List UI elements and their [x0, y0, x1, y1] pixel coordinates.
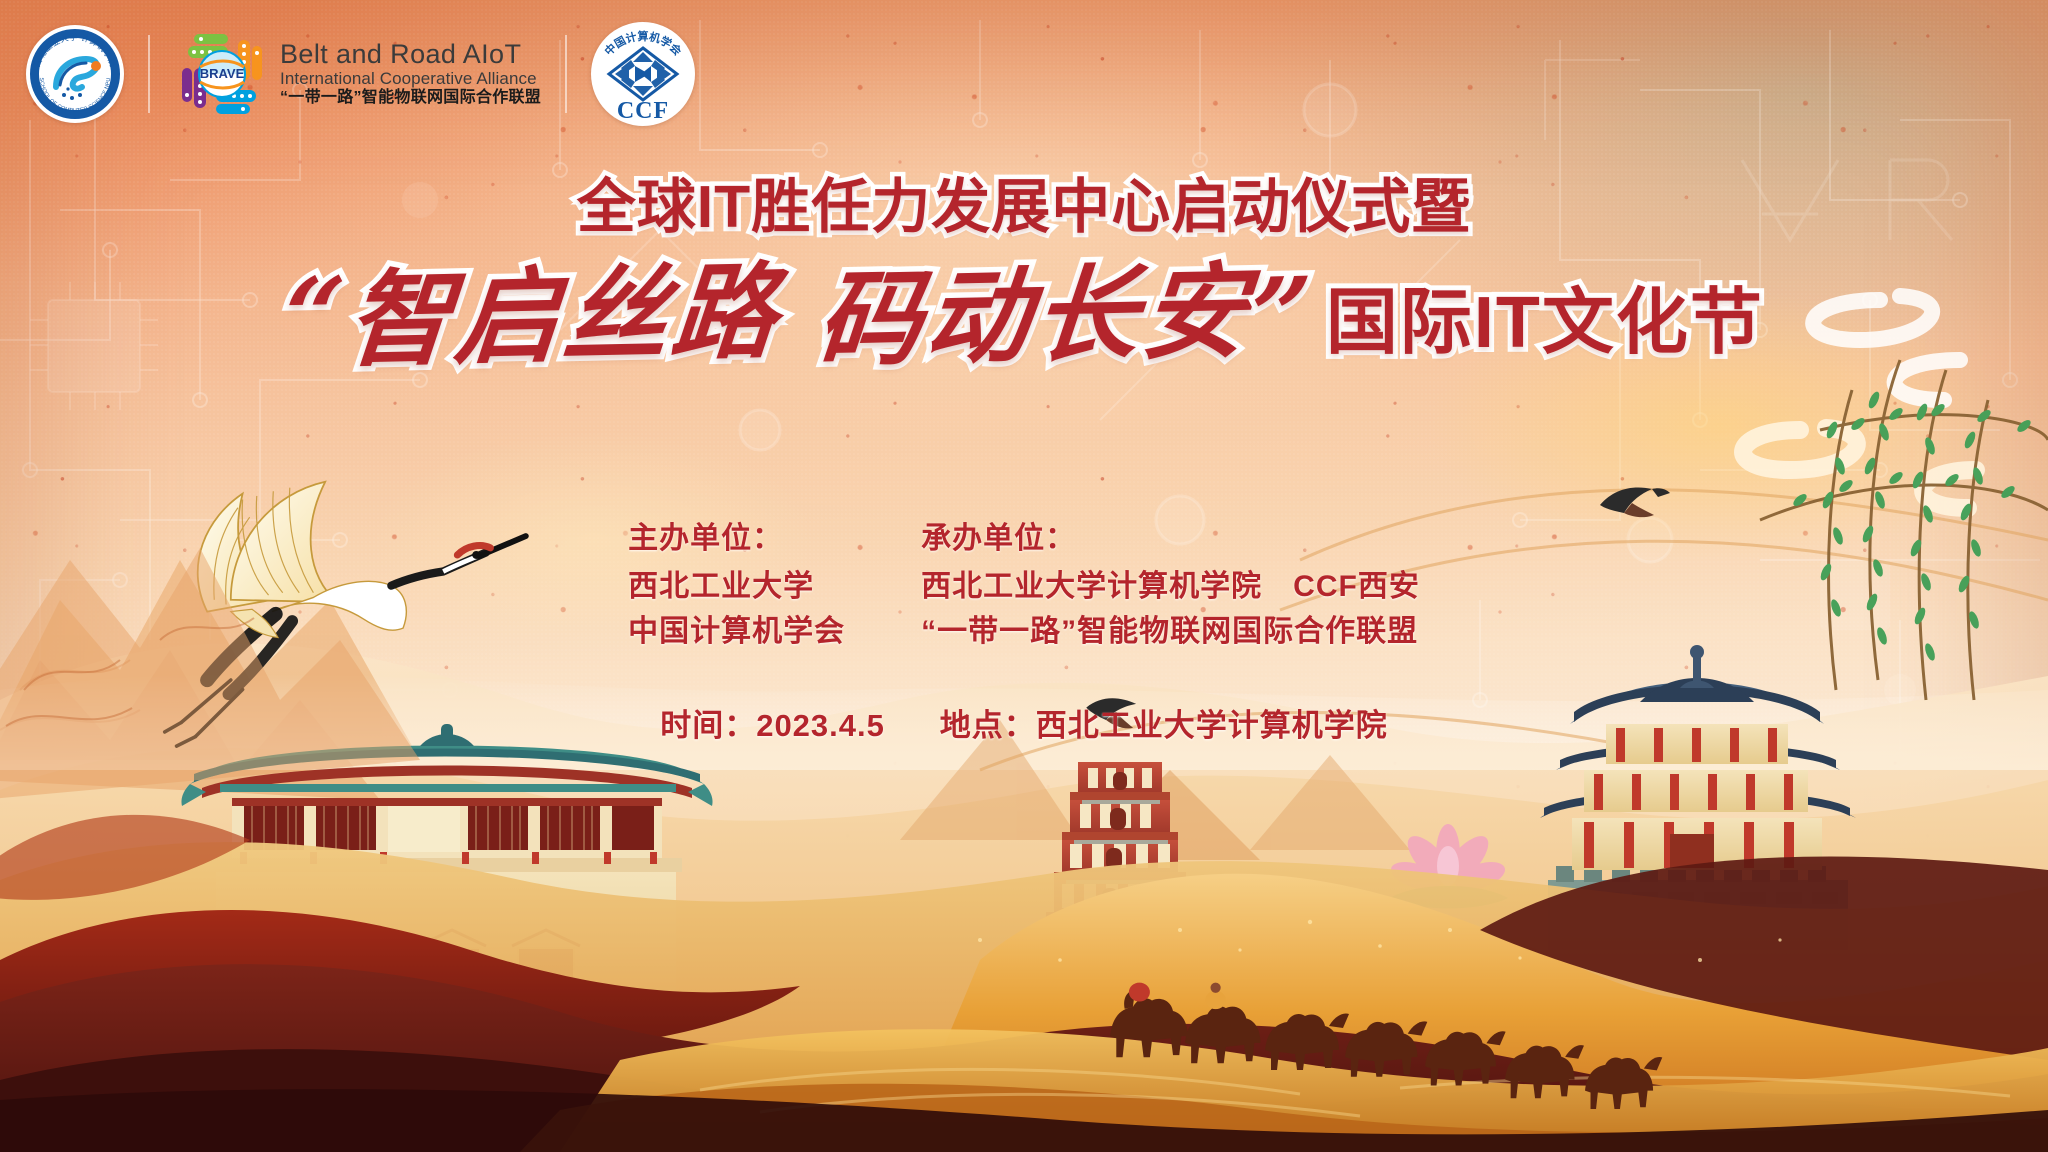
event-main-title: “ 智启丝路 码动长安 ” 国际IT文化节	[0, 261, 2048, 370]
camel-caravan-icon	[1110, 983, 1662, 1109]
logo-divider-2	[565, 35, 567, 113]
host-heading: 主办单位：	[628, 516, 845, 562]
organiser-info: 主办单位： 西北工业大学 中国计算机学会 承办单位： 西北工业大学计算机学院 C…	[0, 516, 2048, 655]
festival-name: 国际IT文化节	[1326, 287, 1764, 359]
headline-block: 全球IT胜任力发展中心启动仪式暨 “ 智启丝路 码动长安 ” 国际IT文化节	[0, 178, 2048, 370]
danfeng-gate-icon	[181, 724, 712, 1040]
event-subtitle: 全球IT胜任力发展中心启动仪式暨	[0, 178, 2048, 237]
logo-bar: 西北工业大学 计算机学院 SCHOOL OF COMPUTER SCIENCE,…	[26, 22, 695, 126]
place-value: 西北工业大学计算机学院	[1036, 708, 1388, 743]
organizer-column: 承办单位： 西北工业大学计算机学院 CCF西安 “一带一路”智能物联网国际合作联…	[921, 516, 1420, 655]
nwpu-fish-emblem	[56, 59, 101, 100]
giant-wild-goose-pagoda-icon	[1024, 762, 1216, 1074]
lotus-flower-icon	[1388, 824, 1509, 909]
bottom-edge	[0, 1089, 2048, 1152]
brave-line-1: Belt and Road AIoT	[280, 41, 541, 69]
organizer-line-1: 西北工业大学计算机学院 CCF西安	[921, 564, 1420, 610]
host-column: 主办单位： 西北工业大学 中国计算机学会	[628, 516, 845, 655]
time-value: 2023.4.5	[756, 708, 885, 743]
time-label: 时间：	[660, 708, 756, 743]
brave-line-3: “一带一路”智能物联网国际合作联盟	[280, 90, 541, 106]
place-label: 地点：	[940, 708, 1036, 743]
host-line-1: 西北工业大学	[628, 564, 845, 610]
organizer-line-2: “一带一路”智能物联网国际合作联盟	[921, 609, 1420, 655]
brave-badge-label: BRAVE	[200, 66, 245, 81]
logo-nwpu-school-of-computer-science: 西北工业大学 计算机学院 SCHOOL OF COMPUTER SCIENCE,…	[26, 25, 124, 123]
brave-hands-mark: BRAVE	[174, 26, 270, 122]
dunes-and-ridges	[0, 842, 2048, 1152]
brave-line-2: International Cooperative Alliance	[280, 70, 541, 87]
ccf-acronym-label: CCF	[617, 98, 669, 124]
nwpu-arc-text: 西北工业大学 计算机学院 SCHOOL OF COMPUTER SCIENCE,…	[26, 25, 124, 123]
calligraphy-open-quote: “	[279, 260, 352, 371]
calligraphy-close-quote: ”	[1245, 260, 1318, 371]
event-poster: 西北工业大学 计算机学院 SCHOOL OF COMPUTER SCIENCE,…	[0, 0, 2048, 1152]
event-meta: 时间：2023.4.5 地点：西北工业大学计算机学院	[0, 700, 2048, 745]
swallow-icon-1	[1600, 488, 1670, 518]
logo-belt-and-road-aiot-alliance: BRAVE Belt and Road AIoT International C…	[174, 26, 541, 122]
xian-bell-tower-icon	[1540, 645, 1856, 950]
host-line-2: 中国计算机学会	[628, 609, 845, 655]
logo-ccf: 中国计算机学会 CCF	[591, 22, 695, 126]
calligraphy-phrase-2: 码动长安	[813, 256, 1255, 374]
logo-divider-1	[148, 35, 150, 113]
brave-wordmark: Belt and Road AIoT International Coopera…	[280, 41, 541, 106]
calligraphy-phrase-1: 智启丝路	[343, 256, 785, 374]
organizer-heading: 承办单位：	[921, 516, 1420, 562]
